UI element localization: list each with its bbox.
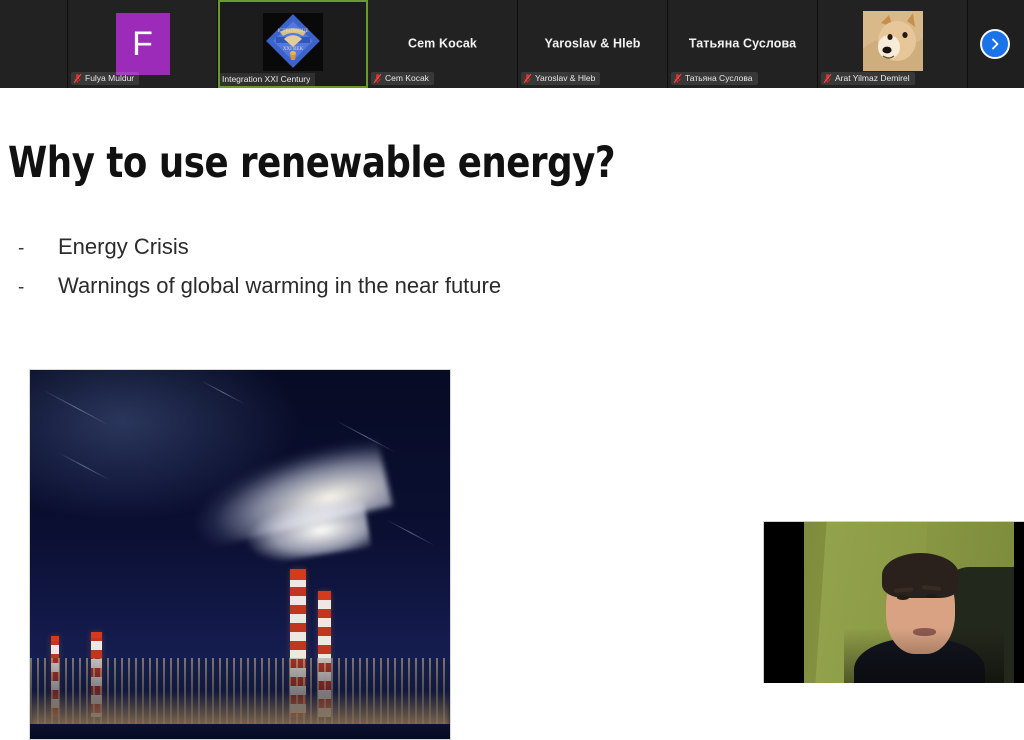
person-eye: [897, 595, 908, 600]
letterbox-bar-left: [764, 522, 804, 683]
mic-muted-icon: [673, 73, 682, 84]
smokestack-cap: [290, 569, 305, 579]
mic-muted-icon: [823, 73, 832, 84]
svg-text:ICTEUPAHUE: ICTEUPAHUE: [278, 29, 309, 34]
participant-name-text: Integration XXI Century: [222, 74, 310, 85]
participant-name-text: Татьяна Суслова: [685, 73, 753, 84]
waterfront: [30, 724, 450, 739]
participant-filmstrip[interactable]: F Fulya Muldur ICTEUPAHU: [0, 0, 1024, 88]
dog-avatar-icon: [863, 11, 923, 71]
slide-bullet-item: - Energy Crisis: [18, 234, 189, 260]
participant-name-text: Yaroslav & Hleb: [535, 73, 595, 84]
avatar-initial-letter: F: [132, 27, 153, 61]
bullet-text: Warnings of global warming in the near f…: [58, 273, 501, 299]
avatar: ICTEUPAHUE XXI BEK: [263, 13, 323, 71]
participant-tile-cem-kocak[interactable]: Cem Kocak Cem Kocak: [368, 0, 518, 88]
participant-name-label: Татьяна Суслова: [671, 72, 758, 85]
bullet-marker: -: [18, 238, 58, 260]
participant-name-label: Cem Kocak: [371, 72, 434, 85]
letterbox-bar-right: [1014, 522, 1024, 683]
participant-name-label: Yaroslav & Hleb: [521, 72, 600, 85]
participant-tile-tatyana-suslova[interactable]: Татьяна Суслова Татьяна Суслова: [668, 0, 818, 88]
slide-title: Why to use renewable energy?: [8, 138, 615, 188]
participant-tile-fulya-muldur[interactable]: F Fulya Muldur: [68, 0, 218, 88]
participant-tile-integration-xxi-century[interactable]: ICTEUPAHUE XXI BEK Integration XXI Centu…: [218, 0, 368, 88]
participant-name-label: Fulya Muldur: [71, 72, 139, 85]
participant-name-label: Arat Yilmaz Demirel: [821, 72, 915, 85]
avatar: [863, 11, 923, 71]
mic-muted-icon: [373, 73, 382, 84]
slide-bullet-item: - Warnings of global warming in the near…: [18, 273, 501, 299]
participant-tile[interactable]: [0, 0, 68, 88]
avatar: F: [116, 13, 170, 75]
participant-name-text: Fulya Muldur: [85, 73, 134, 84]
participant-center-name: Yaroslav & Hleb: [518, 37, 667, 52]
self-view-camera[interactable]: [763, 521, 1024, 683]
mic-muted-icon: [73, 73, 82, 84]
chevron-right-icon: [988, 37, 1002, 51]
participant-center-name: Cem Kocak: [368, 37, 517, 52]
participant-name-text: Arat Yilmaz Demirel: [835, 73, 910, 84]
webcam-vignette: [844, 628, 1004, 683]
participant-tile-yaroslav-and-hleb[interactable]: Yaroslav & Hleb Yaroslav & Hleb: [518, 0, 668, 88]
participant-tile-arat-yilmaz-demirel[interactable]: Arat Yilmaz Demirel: [818, 0, 968, 88]
mic-muted-icon: [523, 73, 532, 84]
participant-name-text: Cem Kocak: [385, 73, 429, 84]
industrial-refinery-night-photo: [29, 369, 451, 740]
smokestack-cap: [51, 636, 59, 642]
webcam-background-wall: [804, 522, 1014, 683]
organization-emblem-icon: ICTEUPAHUE XXI BEK: [263, 13, 323, 71]
smokestack-cap: [318, 591, 331, 600]
participant-center-name: Татьяна Суслова: [668, 37, 817, 52]
next-page-button[interactable]: [980, 29, 1010, 59]
smokestack-cap: [91, 632, 102, 638]
participant-name-label: Integration XXI Century: [220, 73, 315, 86]
bullet-marker: -: [18, 277, 58, 299]
filmstrip-right-area: [968, 0, 1024, 88]
bullet-text: Energy Crisis: [58, 234, 189, 260]
